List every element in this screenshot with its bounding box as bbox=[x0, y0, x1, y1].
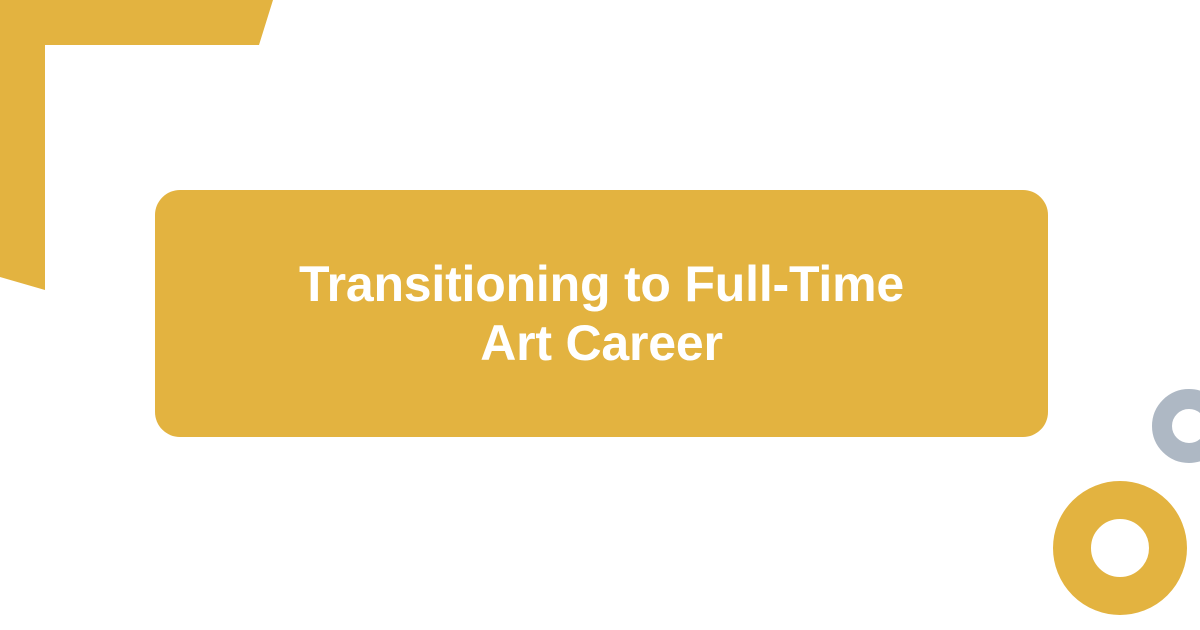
page-title: Transitioning to Full-Time Art Career bbox=[299, 255, 904, 372]
slide-canvas: Transitioning to Full-Time Art Career bbox=[0, 0, 1200, 630]
gray-ring-icon bbox=[1152, 389, 1200, 463]
title-card: Transitioning to Full-Time Art Career bbox=[155, 190, 1048, 437]
yellow-ring-icon bbox=[1053, 481, 1187, 615]
